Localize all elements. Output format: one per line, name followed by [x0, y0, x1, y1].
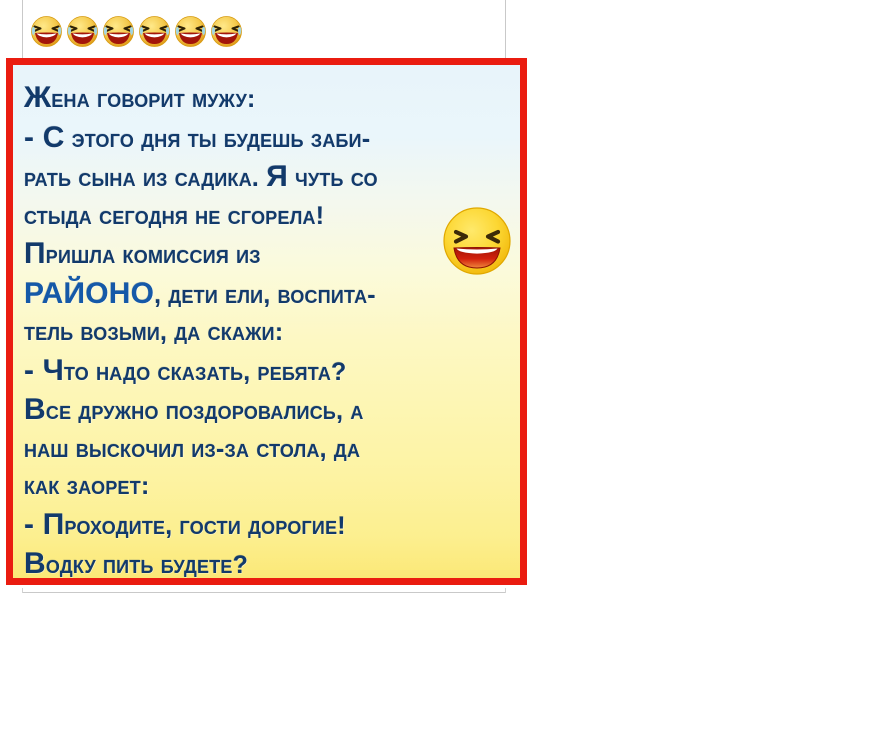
- container-rail-bottom: [22, 592, 506, 593]
- joke-line: стыда сегодня не сгорела!: [24, 198, 512, 236]
- joke-line: Водку пить будете?: [24, 545, 512, 585]
- container-rail-tick-left: [22, 588, 23, 593]
- joke-line: наш выскочил из-за стола, да: [24, 431, 512, 469]
- rolling-on-the-floor-laughing-icon[interactable]: [174, 15, 207, 48]
- joke-line: - С этого дня ты будешь заби-: [24, 119, 512, 159]
- joke-line: - Проходите, гости дорогие!: [24, 506, 512, 546]
- joke-text-block: Жена говорит мужу:- С этого дня ты будеш…: [24, 79, 512, 585]
- joke-line: - Что надо сказать, ребята?: [24, 352, 512, 392]
- joke-card-inner: Жена говорит мужу:- С этого дня ты будеш…: [13, 65, 520, 578]
- joke-card: Жена говорит мужу:- С этого дня ты будеш…: [6, 58, 527, 585]
- joke-line: тель возьми, да скажи:: [24, 314, 512, 352]
- container-rail-tick-right: [505, 588, 506, 593]
- joke-line: рать сына из садика. Я чуть со: [24, 158, 512, 198]
- joke-line: как заорет:: [24, 468, 512, 506]
- laughing-emoji-strip[interactable]: [30, 10, 500, 52]
- rolling-on-the-floor-laughing-icon[interactable]: [102, 15, 135, 48]
- rolling-on-the-floor-laughing-icon[interactable]: [210, 15, 243, 48]
- joke-line: Все дружно поздоровались, а: [24, 391, 512, 431]
- rolling-on-the-floor-laughing-icon[interactable]: [138, 15, 171, 48]
- page-root: Жена говорит мужу:- С этого дня ты будеш…: [0, 0, 896, 753]
- joke-line: Пришла комиссия из: [24, 235, 512, 275]
- container-rail-right: [505, 0, 506, 60]
- rolling-on-the-floor-laughing-icon[interactable]: [30, 15, 63, 48]
- joke-line: РАЙОНО, дети ели, воспита-: [24, 275, 512, 315]
- joke-line: Жена говорит мужу:: [24, 79, 512, 119]
- rolling-on-the-floor-laughing-icon[interactable]: [66, 15, 99, 48]
- container-rail-left: [22, 0, 23, 60]
